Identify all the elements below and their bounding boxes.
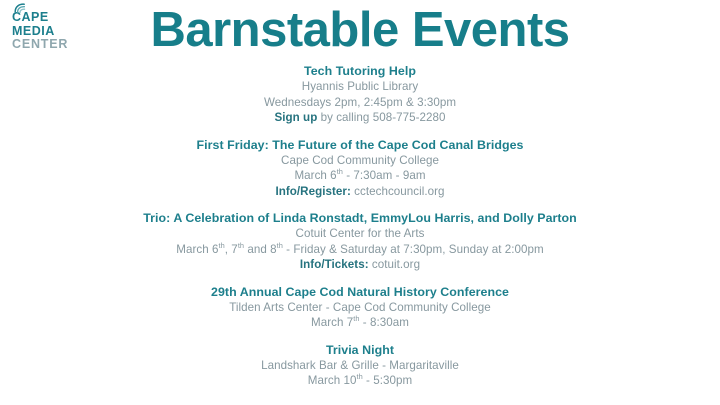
event-title: First Friday: The Future of the Cape Cod… <box>0 137 720 153</box>
event-when-date-2: , 7 <box>225 243 238 256</box>
page-title: Barnstable Events <box>0 2 720 58</box>
event-contact: Sign up by calling 508-775-2280 <box>0 110 720 126</box>
event-when-time: - 7:30am - 9am <box>343 169 426 182</box>
event-contact: Info/Register: cctechcouncil.org <box>0 184 720 200</box>
event-contact-lead: Sign up <box>274 111 317 124</box>
event-item: Trivia Night Landshark Bar & Grille - Ma… <box>0 342 720 389</box>
event-title: Tech Tutoring Help <box>0 63 720 79</box>
event-item: 29th Annual Cape Cod Natural History Con… <box>0 284 720 331</box>
event-when-date: March 10 <box>308 374 357 387</box>
event-when-date: March 7 <box>311 316 353 329</box>
event-when-date-1: March 6 <box>176 243 218 256</box>
event-title: 29th Annual Cape Cod Natural History Con… <box>0 284 720 300</box>
event-contact-detail: cotuit.org <box>369 258 420 271</box>
event-when: March 6th, 7th and 8th - Friday & Saturd… <box>0 242 720 258</box>
event-when-time: - 8:30am <box>360 316 409 329</box>
event-title: Trio: A Celebration of Linda Ronstadt, E… <box>0 210 720 226</box>
event-item: Trio: A Celebration of Linda Ronstadt, E… <box>0 210 720 273</box>
event-venue: Hyannis Public Library <box>0 79 720 95</box>
barnstable-events-slide: { "logo": { "icon": "wifi-signal-arc-ico… <box>0 0 720 405</box>
event-when: March 7th - 8:30am <box>0 315 720 331</box>
event-contact-lead: Info/Tickets: <box>300 258 369 271</box>
event-item: Tech Tutoring Help Hyannis Public Librar… <box>0 63 720 126</box>
event-when-date-3: and 8 <box>244 243 277 256</box>
event-when-time: - Friday & Saturday at 7:30pm, Sunday at… <box>283 243 544 256</box>
event-item: First Friday: The Future of the Cape Cod… <box>0 137 720 200</box>
event-contact-detail: by calling 508-775-2280 <box>317 111 445 124</box>
event-when-time: - 5:30pm <box>363 374 412 387</box>
event-contact-lead: Info/Register: <box>275 185 350 198</box>
event-contact: Info/Tickets: cotuit.org <box>0 257 720 273</box>
event-venue: Cape Cod Community College <box>0 153 720 169</box>
event-when: March 10th - 5:30pm <box>0 373 720 389</box>
event-title: Trivia Night <box>0 342 720 358</box>
event-venue: Cotuit Center for the Arts <box>0 226 720 242</box>
event-when: Wednesdays 2pm, 2:45pm & 3:30pm <box>0 95 720 111</box>
event-contact-detail: cctechcouncil.org <box>351 185 445 198</box>
event-venue: Tilden Arts Center - Cape Cod Community … <box>0 300 720 316</box>
event-venue: Landshark Bar & Grille - Margaritaville <box>0 358 720 374</box>
event-when: March 6th - 7:30am - 9am <box>0 168 720 184</box>
event-when-date: March 6 <box>294 169 336 182</box>
events-list: Tech Tutoring Help Hyannis Public Librar… <box>0 63 720 400</box>
